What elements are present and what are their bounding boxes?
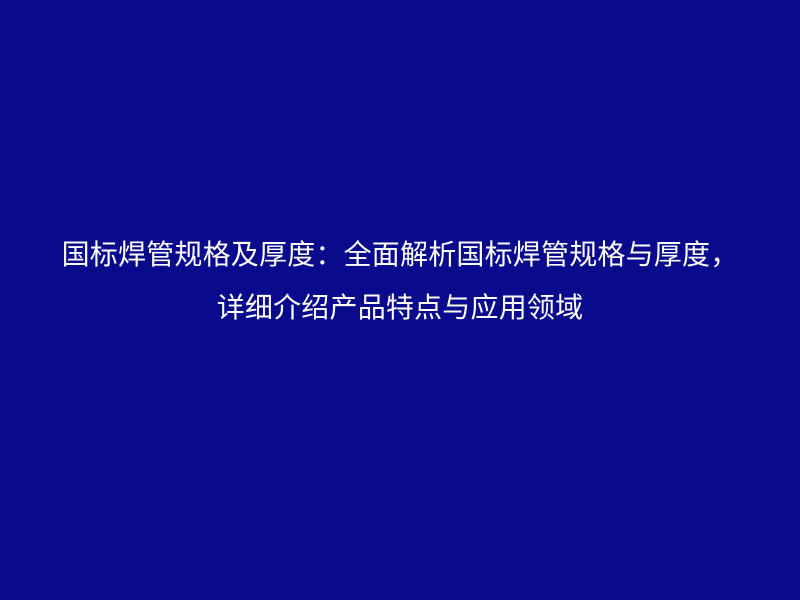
slide-title: 国标焊管规格及厚度：全面解析国标焊管规格与厚度，详细介绍产品特点与应用领域 [55, 228, 745, 334]
slide-canvas: 国标焊管规格及厚度：全面解析国标焊管规格与厚度，详细介绍产品特点与应用领域 [0, 0, 800, 600]
title-block: 国标焊管规格及厚度：全面解析国标焊管规格与厚度，详细介绍产品特点与应用领域 [0, 0, 800, 600]
